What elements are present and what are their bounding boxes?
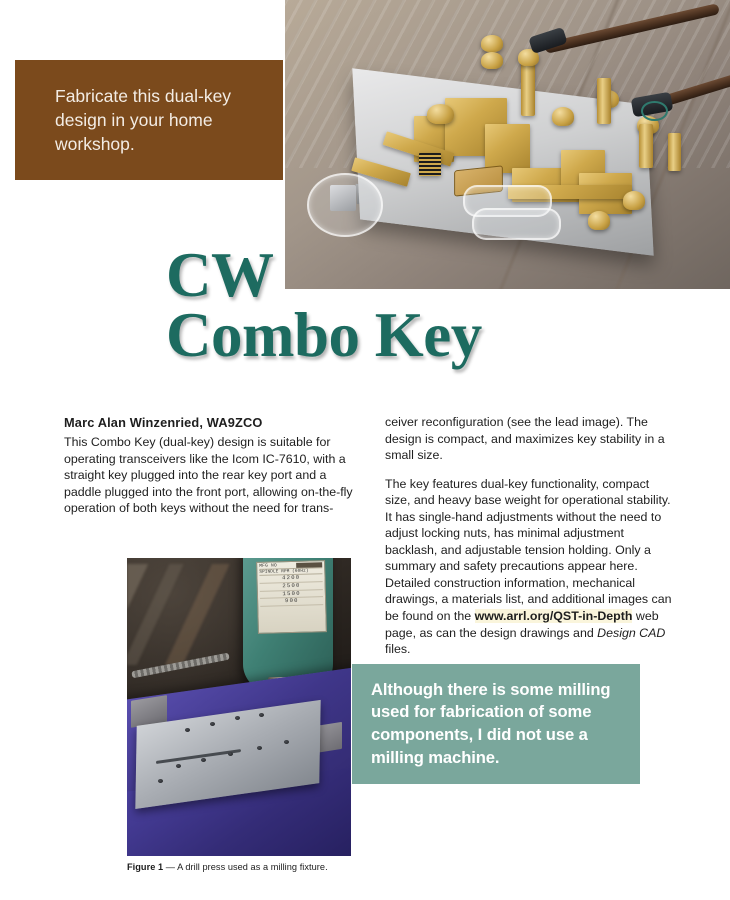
body-paragraph-right-2: The key features dual-key functionality,…	[385, 476, 677, 658]
workpiece-hole	[210, 722, 215, 726]
pull-quote-text: Although there is some milling used for …	[371, 679, 630, 770]
workpiece-hole	[158, 779, 163, 783]
pull-quote-box: Although there is some milling used for …	[352, 664, 640, 784]
figure-1-photo: MFG NO SPINDLE RPM (60Hz) 4200 2500 1500…	[127, 558, 351, 856]
body-paragraph-left: This Combo Key (dual-key) design is suit…	[64, 434, 354, 517]
qst-in-depth-link[interactable]: www.arrl.org/QST-in-Depth	[475, 609, 633, 623]
figure-caption-label: Figure 1	[127, 862, 163, 872]
author-byline: Marc Alan Winzenried, WA9ZCO	[64, 414, 354, 431]
mfg-number-field	[296, 562, 323, 568]
figure-caption-text: A drill press used as a milling fixture.	[177, 862, 328, 872]
paragraph-text-before-link: The key features dual-key functionality,…	[385, 477, 672, 623]
binding-post-front-2	[639, 124, 653, 167]
adjust-knob-rear-side	[427, 104, 454, 124]
article-column-left: Marc Alan Winzenried, WA9ZCO This Combo …	[64, 414, 354, 517]
design-cad-title: Design CAD	[597, 626, 665, 640]
workpiece-hole	[228, 752, 233, 756]
body-paragraph-right-1: ceiver reconfiguration (see the lead ima…	[385, 414, 677, 464]
intro-callout-box: Fabricate this dual-key design in your h…	[15, 60, 283, 180]
paddle-adjust-knob-4	[623, 191, 645, 210]
mfg-number-label: MFG NO	[259, 563, 277, 568]
paragraph-text-after: files.	[385, 642, 410, 656]
rpm-value-4: 900	[260, 598, 324, 607]
binding-post-front-1	[597, 78, 611, 124]
workpiece-hole	[257, 746, 262, 750]
workpiece-hole	[284, 740, 289, 744]
acrylic-paddle-lever-2	[472, 208, 561, 240]
figure-1-caption: Figure 1 — A drill press used as a milli…	[127, 862, 427, 872]
paddle-adjust-knob-1	[552, 107, 574, 126]
page-title: CW Combo Key	[166, 246, 482, 366]
workpiece-hole	[201, 758, 206, 762]
title-line-2: Combo Key	[166, 306, 482, 366]
article-column-right: ceiver reconfiguration (see the lead ima…	[385, 414, 677, 658]
paddle-adjust-knob-5	[588, 211, 610, 230]
workshop-clutter	[127, 564, 257, 665]
adjust-knob-rear-top	[481, 35, 503, 52]
intro-callout-text: Fabricate this dual-key design in your h…	[55, 84, 283, 156]
magazine-page: Fabricate this dual-key design in your h…	[0, 0, 730, 900]
binding-post-rear-left	[521, 64, 535, 116]
knob-cap-aluminum	[330, 185, 357, 211]
binding-post-front-3	[668, 133, 681, 171]
workpiece-hole	[235, 716, 240, 720]
workpiece-hole	[176, 764, 181, 768]
adjust-knob-rear-mid	[481, 52, 503, 69]
spindle-rpm-label: MFG NO SPINDLE RPM (60Hz) 4200 2500 1500…	[256, 560, 327, 633]
cable-strain-relief-teal	[641, 101, 668, 121]
spring-stack	[419, 153, 441, 176]
figure-caption-dash: —	[163, 862, 177, 872]
